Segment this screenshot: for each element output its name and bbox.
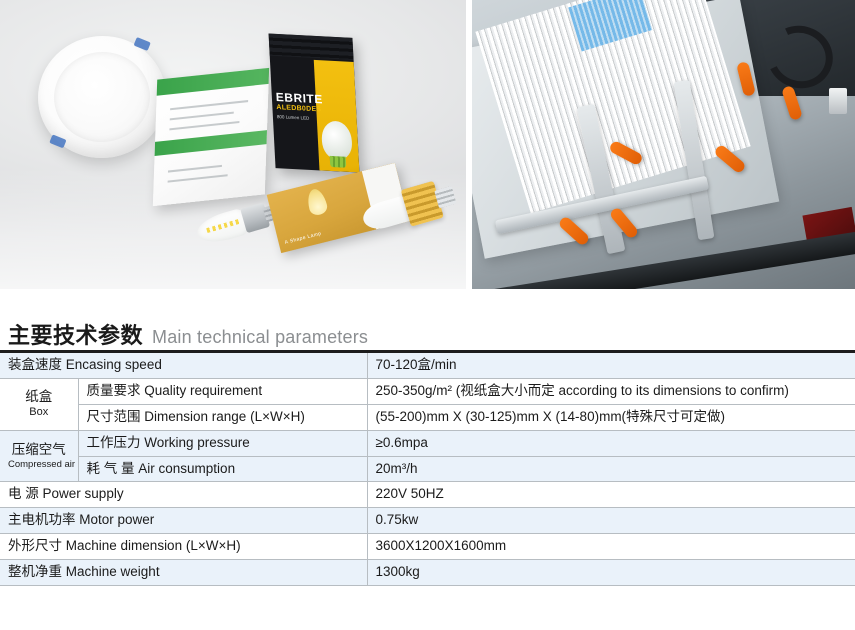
carton-gold-print: A Shape Lamp bbox=[284, 231, 322, 246]
print-line bbox=[168, 165, 222, 173]
carton-ebrite: EBRITE ALEDB0DES 800 Lumen LED bbox=[269, 34, 360, 173]
label-cn: 工作压力 bbox=[87, 435, 141, 450]
group-label-en: Compressed air bbox=[8, 459, 70, 471]
label-en: Dimension range (L×W×H) bbox=[144, 409, 305, 424]
print-line bbox=[170, 112, 234, 121]
row-value-working-pressure: ≥0.6mpa bbox=[367, 430, 855, 456]
carton-green-band bbox=[155, 130, 267, 156]
table-row-machine-dimension: 外形尺寸 Machine dimension (L×W×H) 3600X1200… bbox=[0, 534, 855, 560]
table-row-motor-power: 主电机功率 Motor power 0.75kw bbox=[0, 508, 855, 534]
label-cn: 尺寸范围 bbox=[87, 409, 141, 424]
row-label-machine-dimension: 外形尺寸 Machine dimension (L×W×H) bbox=[0, 534, 367, 560]
label-en: Machine dimension (L×W×H) bbox=[66, 538, 241, 553]
table-row-air-consumption: 耗 气 量 Air consumption 20m³/h bbox=[0, 456, 855, 482]
photo-carton-magazine bbox=[472, 0, 855, 289]
row-label-machine-weight: 整机净重 Machine weight bbox=[0, 560, 367, 586]
group-label-compressed-air: 压缩空气 Compressed air bbox=[0, 430, 78, 482]
label-en: Motor power bbox=[79, 512, 154, 527]
group-label-en: Box bbox=[8, 406, 70, 420]
label-en: Working pressure bbox=[144, 435, 250, 450]
print-line bbox=[169, 121, 239, 130]
row-value-dimension-range: (55-200)mm X (30-125)mm X (14-80)mm(特殊尺寸… bbox=[367, 404, 855, 430]
row-value-power-supply: 220V 50HZ bbox=[367, 482, 855, 508]
carton-top-flap bbox=[269, 34, 354, 61]
photo-led-products: EBRITE ALEDB0DES 800 Lumen LED A Shape L… bbox=[0, 0, 466, 289]
table-row-quality-requirement: 纸盒 Box 质量要求 Quality requirement 250-350g… bbox=[0, 378, 855, 404]
table-row-working-pressure: 压缩空气 Compressed air 工作压力 Working pressur… bbox=[0, 430, 855, 456]
technical-parameters-table: 装盒速度 Encasing speed 70-120盒/min 纸盒 Box 质… bbox=[0, 350, 855, 586]
row-value-machine-dimension: 3600X1200X1600mm bbox=[367, 534, 855, 560]
row-value-motor-power: 0.75kw bbox=[367, 508, 855, 534]
product-photo-strip: EBRITE ALEDB0DES 800 Lumen LED A Shape L… bbox=[0, 0, 855, 289]
row-value-quality-requirement: 250-350g/m² (视纸盒大小而定 according to its di… bbox=[367, 378, 855, 404]
table-row-power-supply: 电 源 Power supply 220V 50HZ bbox=[0, 482, 855, 508]
label-en: Machine weight bbox=[66, 564, 160, 579]
print-line bbox=[170, 100, 248, 110]
section-heading-en: Main technical parameters bbox=[152, 327, 368, 348]
group-label-box: 纸盒 Box bbox=[0, 378, 78, 430]
row-label-dimension-range: 尺寸范围 Dimension range (L×W×H) bbox=[78, 404, 367, 430]
label-cn: 耗 气 量 bbox=[87, 461, 135, 476]
label-en: Air consumption bbox=[138, 461, 235, 476]
flame-graphic bbox=[305, 187, 329, 217]
section-heading-cn: 主要技术参数 bbox=[8, 318, 143, 350]
carton-white-green bbox=[153, 68, 269, 206]
row-label-encasing-speed: 装盒速度 Encasing speed bbox=[0, 352, 367, 379]
section-heading: 主要技术参数 Main technical parameters bbox=[8, 318, 368, 350]
table-row-encasing-speed: 装盒速度 Encasing speed 70-120盒/min bbox=[0, 352, 855, 379]
group-label-cn: 纸盒 bbox=[8, 389, 70, 406]
label-cn: 主电机功率 bbox=[8, 512, 76, 527]
ebrite-subbrand: ALEDB0DES bbox=[276, 104, 321, 113]
label-en: Encasing speed bbox=[66, 357, 162, 372]
label-cn: 整机净重 bbox=[8, 564, 62, 579]
row-label-quality-requirement: 质量要求 Quality requirement bbox=[78, 378, 367, 404]
lamp-screw-cap bbox=[434, 186, 456, 208]
print-line bbox=[168, 174, 228, 182]
group-label-cn: 压缩空气 bbox=[8, 442, 70, 459]
table-body: 装盒速度 Encasing speed 70-120盒/min 纸盒 Box 质… bbox=[0, 352, 855, 586]
table-row-machine-weight: 整机净重 Machine weight 1300kg bbox=[0, 560, 855, 586]
row-value-machine-weight: 1300kg bbox=[367, 560, 855, 586]
label-cn: 外形尺寸 bbox=[8, 538, 62, 553]
photo-sensor bbox=[829, 88, 847, 114]
row-value-air-consumption: 20m³/h bbox=[367, 456, 855, 482]
row-label-power-supply: 电 源 Power supply bbox=[0, 482, 367, 508]
row-label-working-pressure: 工作压力 Working pressure bbox=[78, 430, 367, 456]
label-en: Quality requirement bbox=[144, 383, 262, 398]
label-en: Power supply bbox=[43, 486, 124, 501]
label-cn: 质量要求 bbox=[87, 383, 141, 398]
ebrite-spec-line-1: 800 Lumen LED bbox=[277, 114, 321, 122]
table-row-dimension-range: 尺寸范围 Dimension range (L×W×H) (55-200)mm … bbox=[0, 404, 855, 430]
row-label-motor-power: 主电机功率 Motor power bbox=[0, 508, 367, 534]
label-cn: 电 源 bbox=[8, 486, 39, 501]
label-cn: 装盒速度 bbox=[8, 357, 62, 372]
row-label-air-consumption: 耗 气 量 Air consumption bbox=[78, 456, 367, 482]
row-value-encasing-speed: 70-120盒/min bbox=[367, 352, 855, 379]
